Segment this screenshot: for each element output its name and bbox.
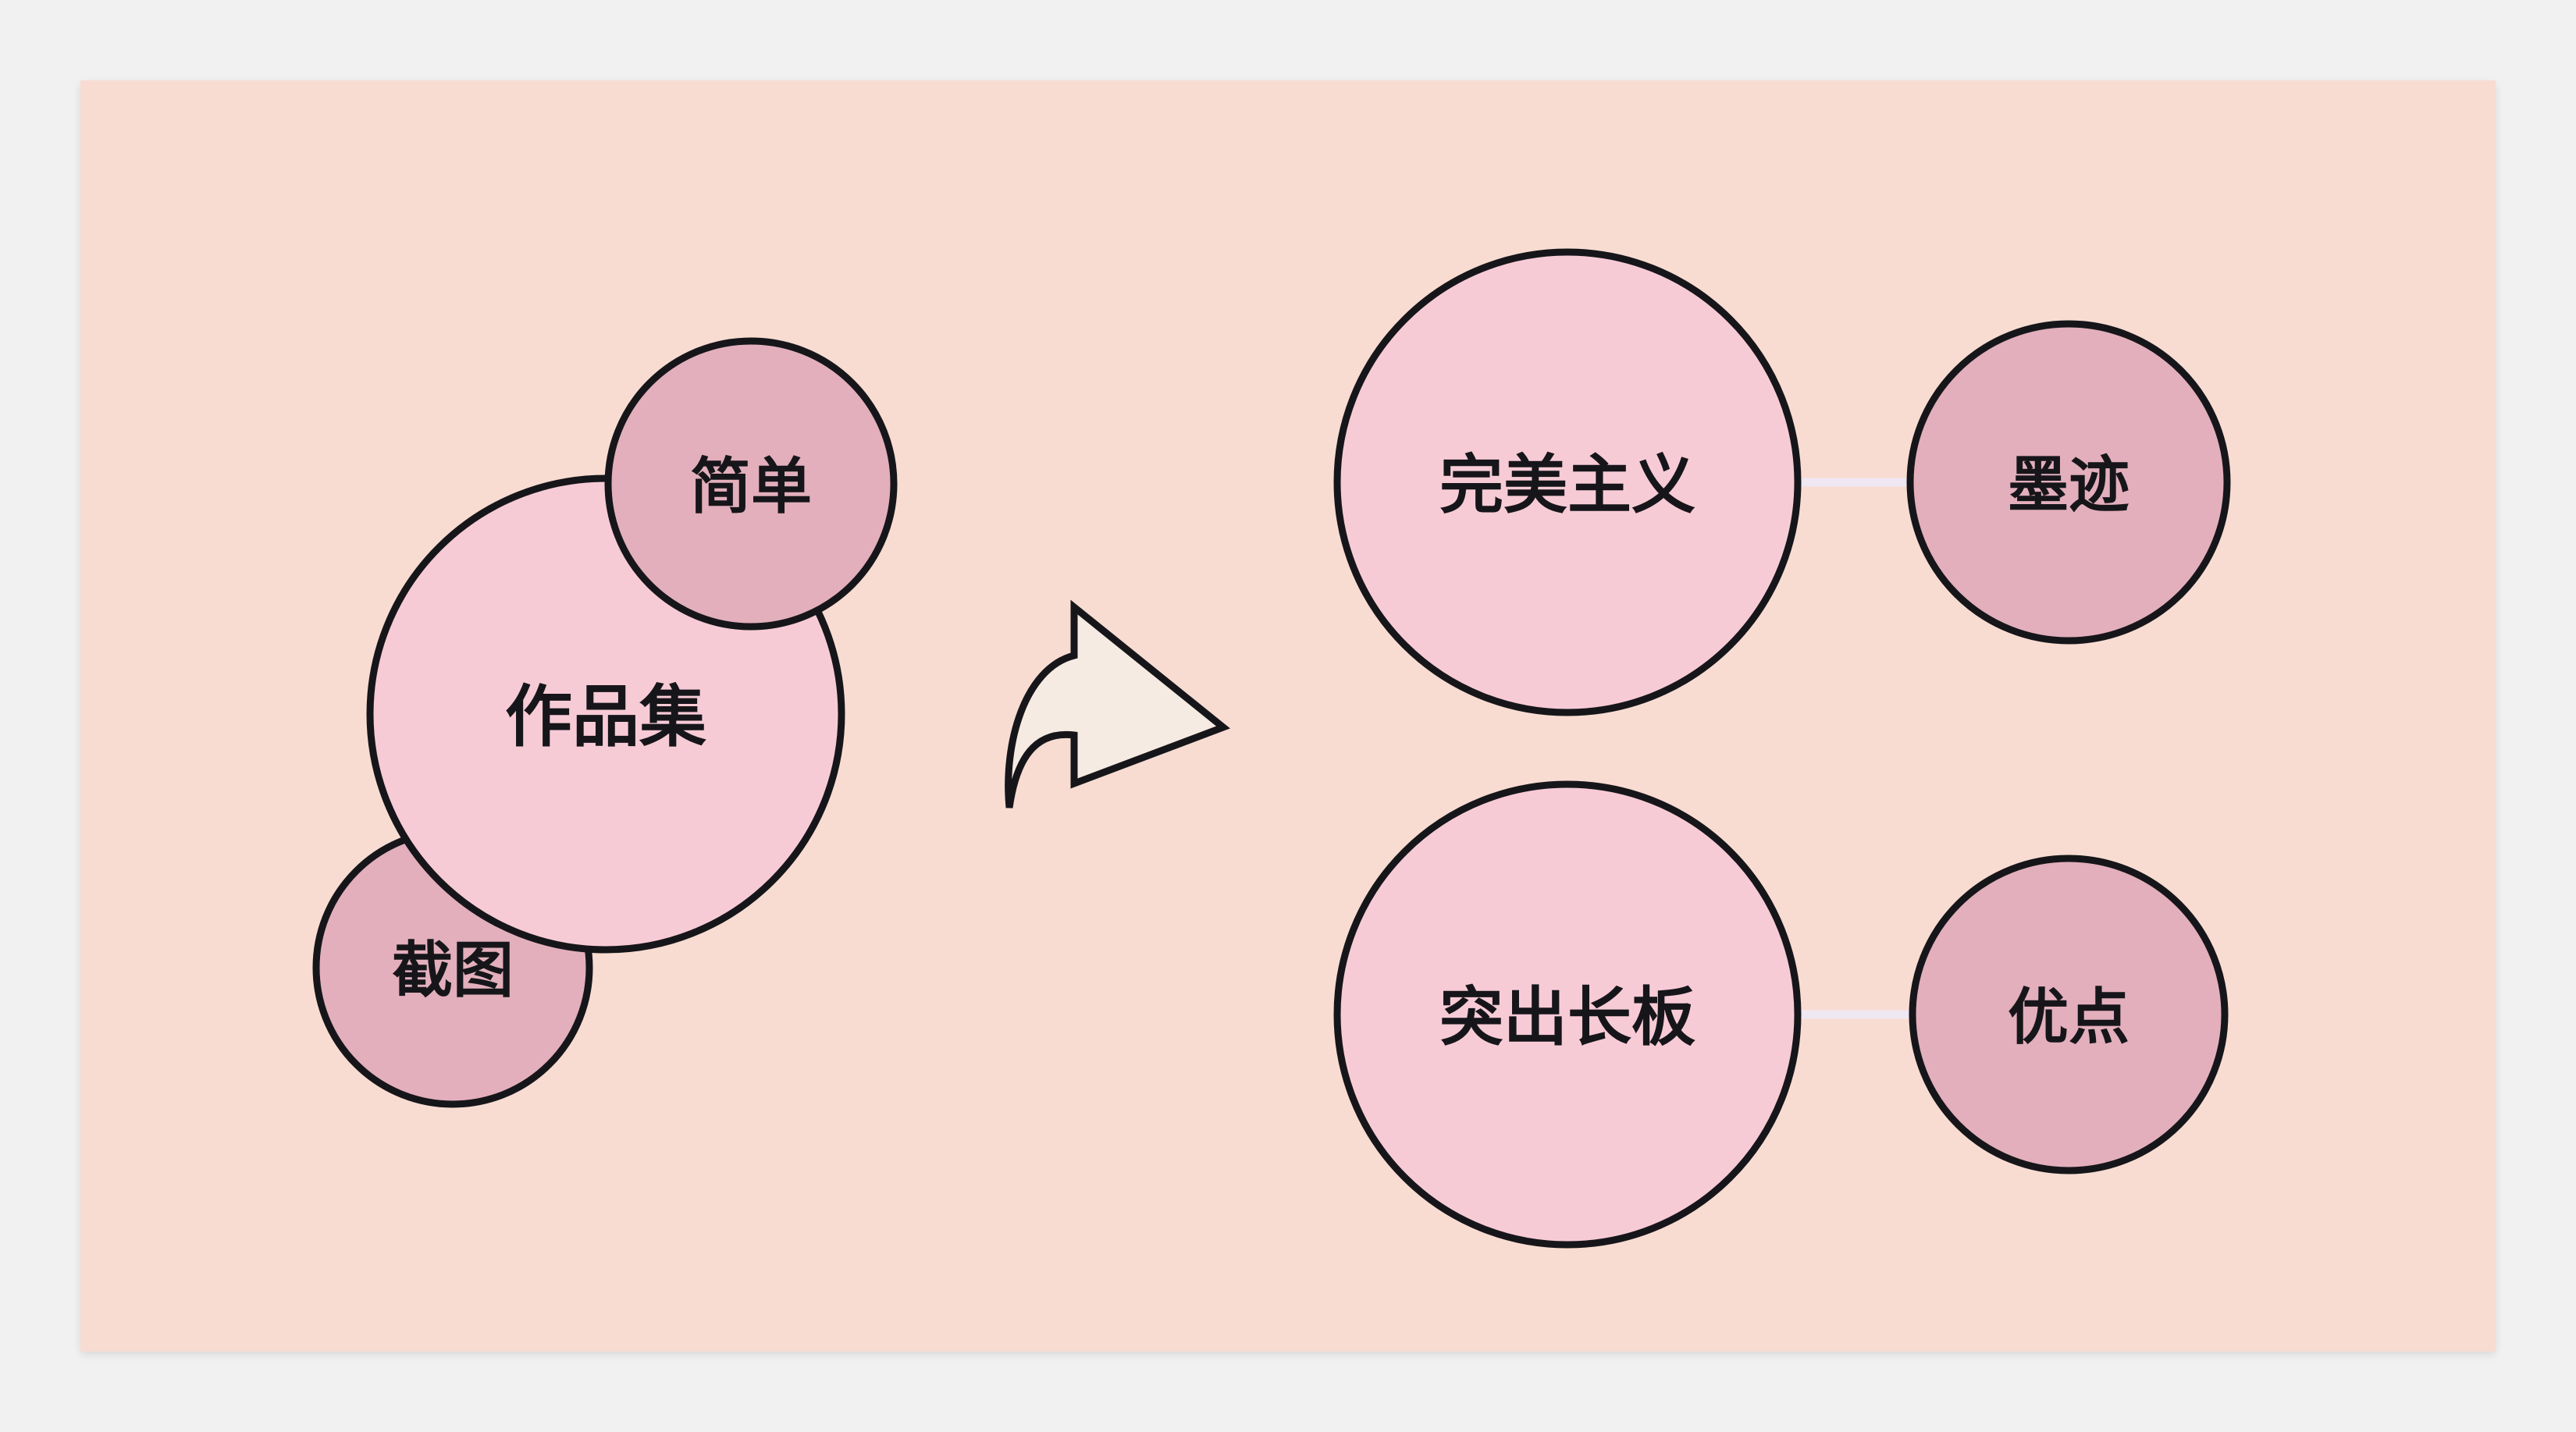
node-screenshot-label: 截图 [392,936,514,1006]
screenshot-root: 截图 作品集 简单 完美主义 [0,0,2576,1432]
diagram-canvas: 截图 作品集 简单 完美主义 [0,0,2576,1432]
node-advantages[interactable]: 优点 [1912,858,2225,1171]
node-advantages-label: 优点 [2008,983,2129,1053]
node-highlight-strengths[interactable]: 突出长板 [1337,784,1798,1245]
node-ink-marks-label: 墨迹 [2008,450,2129,521]
node-ink-marks[interactable]: 墨迹 [1910,324,2227,641]
node-perfectionism-label: 完美主义 [1439,449,1695,523]
node-simple-label: 简单 [690,452,812,522]
node-perfectionism[interactable]: 完美主义 [1337,252,1798,712]
node-simple[interactable]: 简单 [608,341,894,627]
node-highlight-strengths-label: 突出长板 [1439,981,1695,1055]
node-portfolio-label: 作品集 [505,678,706,756]
